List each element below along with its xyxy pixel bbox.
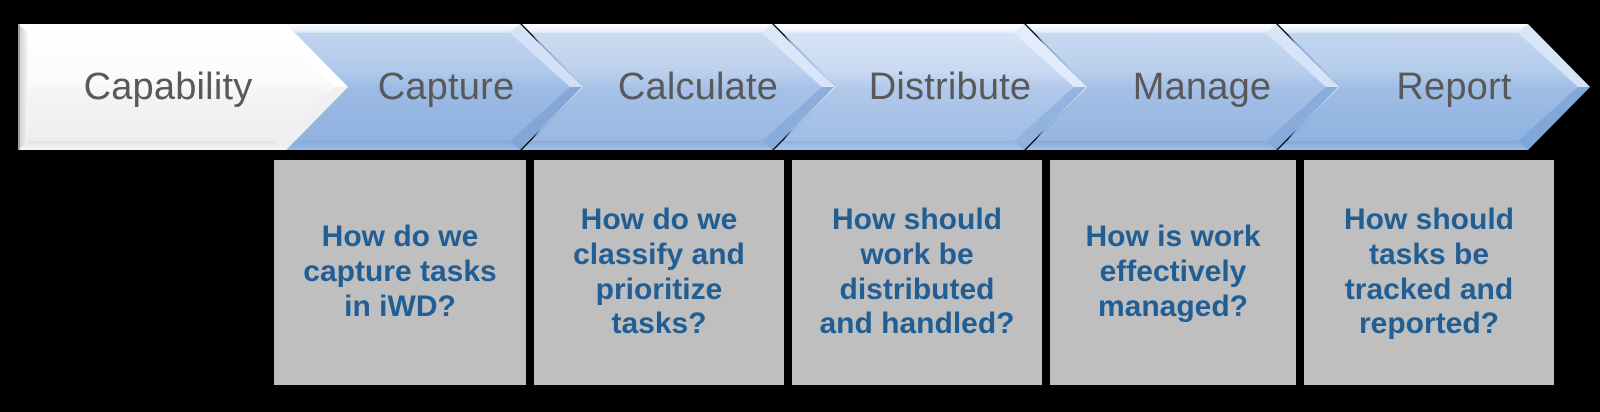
question-box-report-text: How should tasks be tracked and reported… <box>1338 203 1520 342</box>
diagram-canvas: Capability <box>0 0 1600 412</box>
chevron-band: Capability <box>0 0 1600 160</box>
question-box-capture[interactable]: How do we capture tasks in iWD? <box>274 160 526 385</box>
question-box-capture-text: How do we capture tasks in iWD? <box>297 220 502 324</box>
chevron-capability[interactable]: Capability <box>18 24 348 150</box>
question-box-calculate-text: How do we classify and prioritize tasks? <box>567 203 751 342</box>
question-box-calculate[interactable]: How do we classify and prioritize tasks? <box>534 160 784 385</box>
question-box-manage-text: How is work effectively managed? <box>1079 220 1266 324</box>
question-box-distribute-text: How should work be distributed and handl… <box>814 203 1021 342</box>
question-box-manage[interactable]: How is work effectively managed? <box>1050 160 1296 385</box>
question-box-report[interactable]: How should tasks be tracked and reported… <box>1304 160 1554 385</box>
question-box-distribute[interactable]: How should work be distributed and handl… <box>792 160 1042 385</box>
chevron-capability-shape <box>18 24 348 150</box>
question-box-row: How do we capture tasks in iWD? How do w… <box>0 160 1600 412</box>
